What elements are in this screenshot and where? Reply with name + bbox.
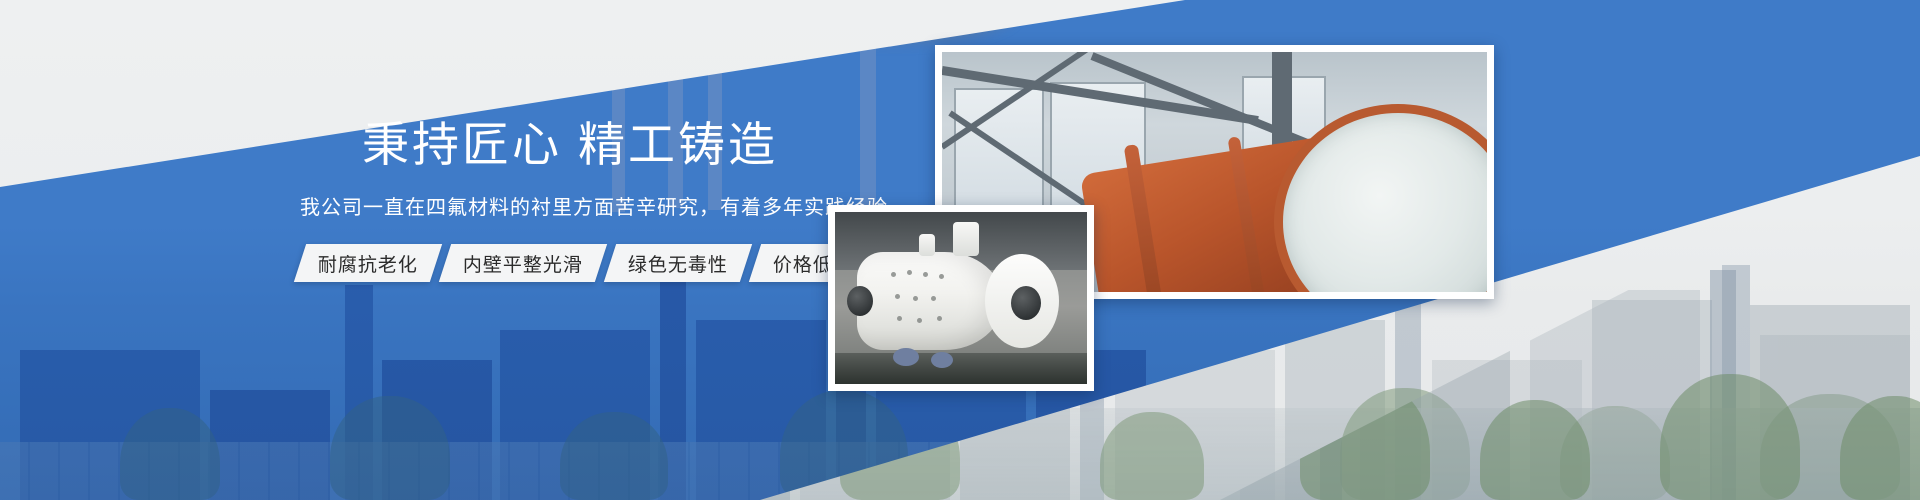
feature-tag-label: 内壁平整光滑 (463, 249, 583, 276)
feature-tag-smooth-inner-wall[interactable]: 内壁平整光滑 (439, 244, 607, 282)
white-vessel-photo[interactable] (828, 205, 1094, 391)
page-title: 秉持匠心 精工铸造 (300, 118, 840, 173)
vessel-yard-scene (835, 212, 1087, 384)
feature-tag-list: 耐腐抗老化 内壁平整光滑 绿色无毒性 价格低廉 (300, 244, 840, 282)
feature-tag-non-toxic[interactable]: 绿色无毒性 (604, 244, 752, 282)
feature-tag-label: 耐腐抗老化 (318, 249, 418, 276)
banner-copy: 秉持匠心 精工铸造 我公司一直在四氟材料的衬里方面苦辛研究，有着多年实践经验 耐… (300, 118, 840, 282)
feature-tag-corrosion-resistant[interactable]: 耐腐抗老化 (294, 244, 442, 282)
hero-banner: 秉持匠心 精工铸造 我公司一直在四氟材料的衬里方面苦辛研究，有着多年实践经验 耐… (0, 0, 1920, 500)
banner-subtitle: 我公司一直在四氟材料的衬里方面苦辛研究，有着多年实践经验 (300, 191, 840, 220)
feature-tag-label: 绿色无毒性 (628, 249, 728, 276)
